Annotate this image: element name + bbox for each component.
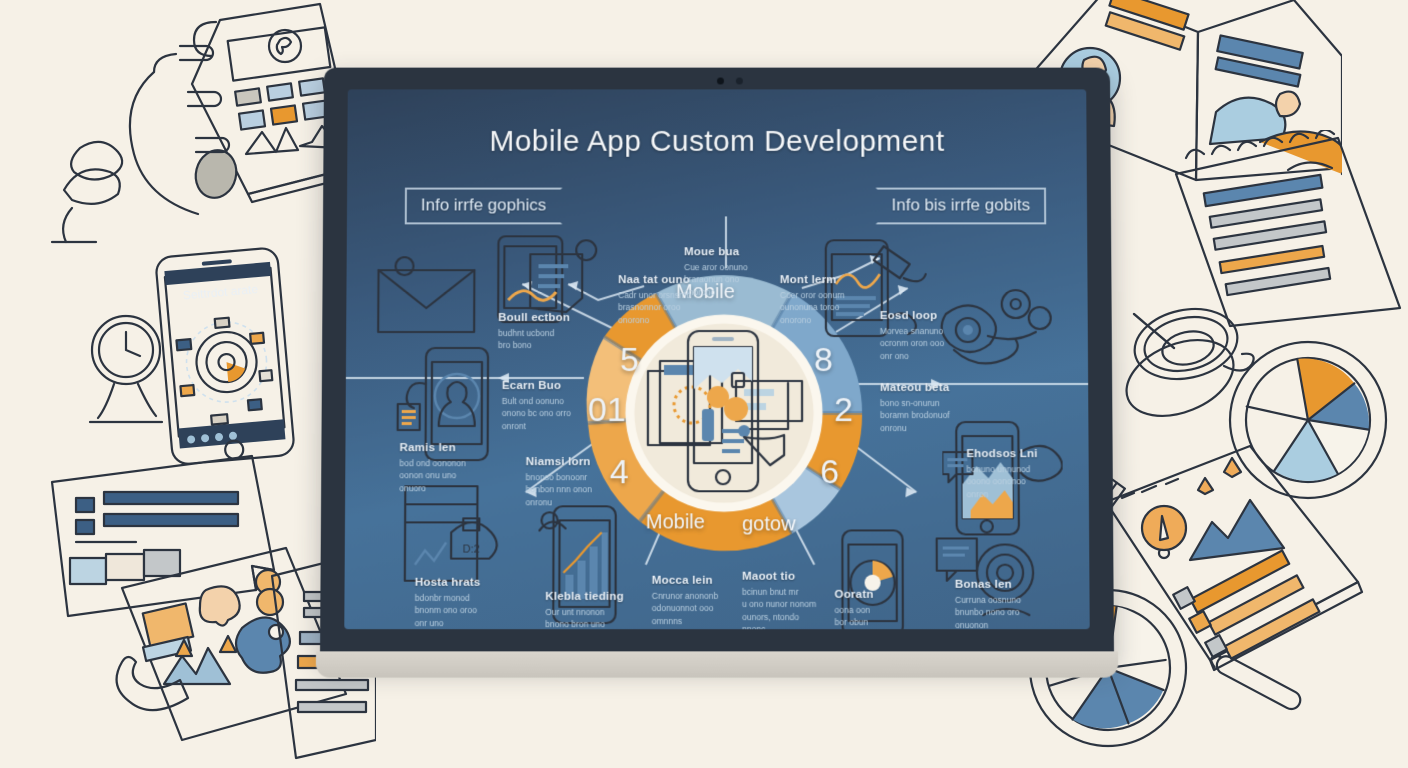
scene-root: Seittrdot arate: [0, 0, 1408, 768]
blurb-b12: Klebla tieding Our unt nnonon bnono bron…: [545, 591, 666, 629]
camera-sensor-dot: [736, 78, 743, 85]
blurb-heading: Maoot tio: [742, 571, 862, 583]
donut-segment-label-6: 6: [820, 453, 839, 492]
smartphone-dashboard: Seittrdot arate: [140, 244, 315, 469]
desk-lamp: [46, 130, 176, 250]
blurb-b06: Ecarn Buo Bult ond oonuno onono bc ono o…: [502, 380, 622, 432]
blurb-body: Curruna oosnuno bnunbo nono oro onuonon: [955, 594, 1076, 629]
donut-segment-label-2: 2: [834, 391, 853, 430]
blurb-heading: Bonas len: [955, 579, 1076, 591]
blurb-heading: Hosta hrats: [415, 577, 536, 589]
blurb-body: bnonso bonoonr bonbon nnn onon onronu: [526, 471, 646, 508]
svg-text:D:2: D:2: [463, 543, 480, 555]
donut-word-bottom-right: gotow: [742, 513, 796, 536]
blurb-heading: Boull ectbon: [498, 312, 618, 324]
blurb-body: bdonbr monod bnonm ono oroo onr uno: [415, 592, 536, 629]
blurb-body: Morvea snanuno ocronm oron ooo onr ono: [880, 325, 1000, 362]
donut-word-bottom-left: Mobile: [646, 511, 705, 534]
blurb-b11: Hosta hrats bdonbr monod bnonm ono oroo …: [415, 577, 536, 629]
blurb-b05: Eosd loop Morvea snanuno ocronm oron ooo…: [880, 310, 1000, 362]
tablet-screen: Mobile App Custom Development Info irrfe…: [344, 89, 1089, 629]
blurb-b04: Boull ectbon budhnt ucbond bro bono: [498, 312, 618, 352]
thumb-envelope: [374, 256, 480, 340]
center-mobile-illustration: [626, 313, 823, 513]
bracket-label-right: Info bis irrfe gobits: [876, 188, 1047, 225]
blurb-heading: Klebla tieding: [545, 591, 666, 603]
blue-pen: [1188, 636, 1318, 746]
blurb-heading: Eosd loop: [880, 310, 1000, 322]
blurb-body: Our unt nnonon bnono bron uno onuono: [545, 606, 666, 629]
infographic-title: Mobile App Custom Development: [347, 125, 1086, 159]
blurb-heading: Mont lerm: [780, 274, 900, 286]
blurb-heading: Ooratn: [834, 589, 955, 601]
blurb-heading: Niamsi lorn: [526, 456, 646, 468]
blurb-heading: Ehodsos Lni: [966, 448, 1086, 460]
blurb-body: Bult ond oonuno onono bc ono orro onront: [502, 395, 622, 432]
blurb-b16: Bonas len Curruna oosnuno bnunbo nono or…: [955, 579, 1076, 629]
camera-dot: [717, 78, 724, 85]
blurb-heading: Ramis len: [399, 442, 519, 454]
tablet-device: Mobile App Custom Development Info irrfe…: [320, 68, 1114, 662]
donut-segment-label-5: 5: [620, 341, 639, 380]
thumb-chart-notebook: D:2: [401, 480, 520, 589]
blurb-heading: Ecarn Buo: [502, 380, 622, 392]
donut-segment-label-8: 8: [814, 341, 833, 380]
blurb-body: budhnt ucbond bro bono: [498, 327, 618, 352]
blurb-b09: Niamsi lorn bnonso bonoonr bonbon nnn on…: [526, 456, 646, 508]
blurb-body: bono sn-onurun boramn brodonuof onronu: [880, 397, 1000, 434]
blurb-heading: Mateou beta: [880, 382, 1000, 394]
blurb-b08: Ramis len bod ond oononon oonon onu uno …: [399, 442, 519, 494]
blurb-body: bod ond oononon oonon onu uno onuoro: [399, 457, 519, 494]
blurb-body: oona oon bor obun on nono: [834, 604, 955, 629]
phone-screen-caption: Seittrdot arate: [182, 282, 259, 303]
blurb-heading: Moue bua: [684, 246, 804, 258]
blurb-b15: Ooratn oona oon bor obun on nono: [834, 589, 955, 629]
blurb-body: bonuno unnunod ooono oononoo onron: [966, 463, 1086, 500]
blurb-b10: Ehodsos Lni bonuno unnunod ooono oononoo…: [966, 448, 1087, 500]
bracket-label-left: Info irrfe gophics: [405, 188, 562, 225]
blurb-b07: Mateou beta bono sn-onurun boramn brodon…: [880, 382, 1000, 434]
